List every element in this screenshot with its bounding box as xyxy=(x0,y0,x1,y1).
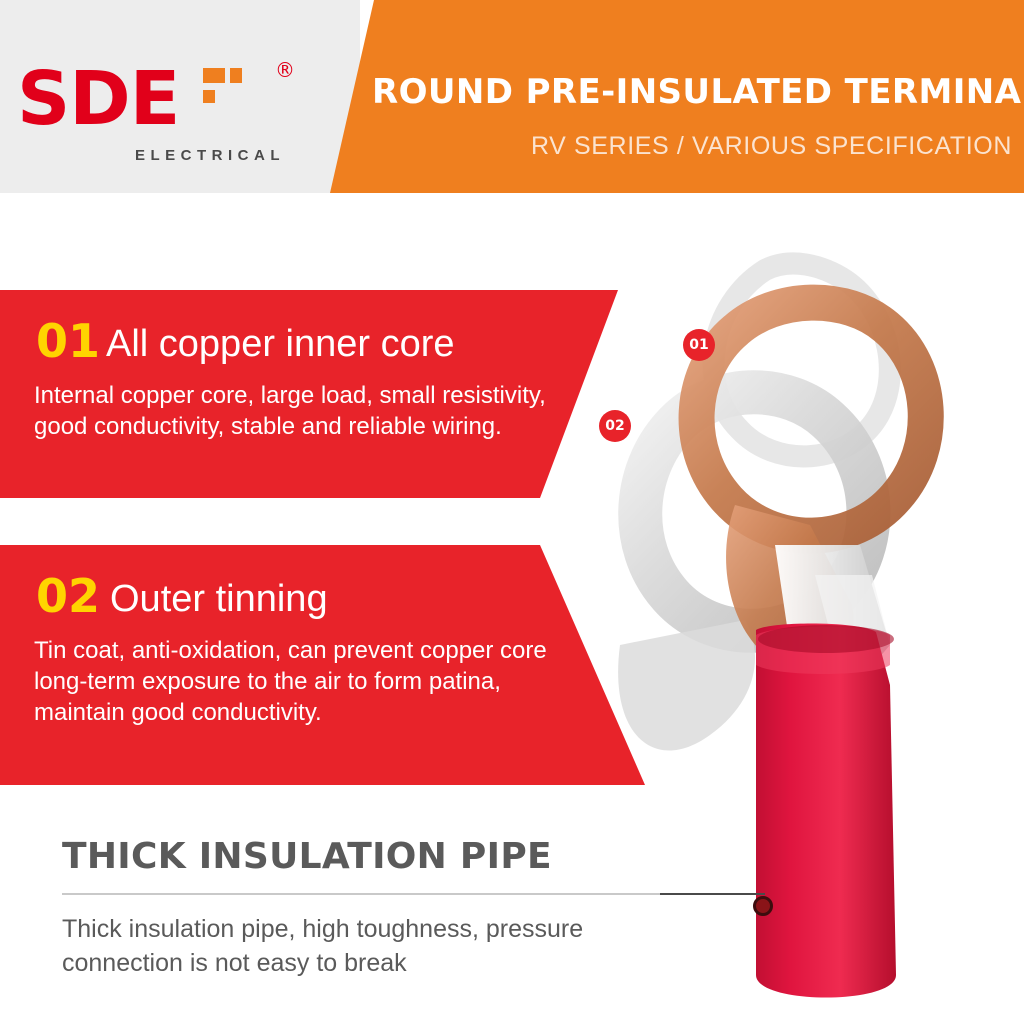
insulation-barrel xyxy=(756,623,896,997)
feature-heading-01: All copper inner core xyxy=(106,322,455,366)
feature-number-01: 01 xyxy=(36,318,100,364)
bottom-section-title: THICK INSULATION PIPE xyxy=(62,836,552,877)
logo-square-icon xyxy=(230,68,242,83)
logo-subtitle: ELECTRICAL xyxy=(135,147,285,164)
leader-line xyxy=(660,893,765,895)
brand-logo: SDE ® ELECTRICAL xyxy=(17,52,307,170)
callout-marker-01: 01 xyxy=(683,329,715,361)
logo-square-icon xyxy=(203,90,215,103)
infographic-page: SDE ® ELECTRICAL ROUND PRE-INSULATED TER… xyxy=(0,0,1024,1024)
registered-trademark-icon: ® xyxy=(275,58,295,82)
bottom-divider xyxy=(62,893,662,895)
feature-body-01: Internal copper core, large load, small … xyxy=(34,380,564,442)
product-illustration xyxy=(560,215,1024,1024)
bottom-section-body: Thick insulation pipe, high toughness, p… xyxy=(62,912,632,980)
page-subtitle: RV SERIES / VARIOUS SPECIFICATION xyxy=(372,132,1012,161)
feature-body-02: Tin coat, anti-oxidation, can prevent co… xyxy=(34,635,574,728)
ring-terminal-graphic xyxy=(560,215,1024,1024)
feature-heading-02: Outer tinning xyxy=(110,577,328,621)
callout-dot-icon xyxy=(753,896,773,916)
header: SDE ® ELECTRICAL ROUND PRE-INSULATED TER… xyxy=(0,0,1024,193)
feature-number-02: 02 xyxy=(36,573,100,619)
feature-block-01: 01 All copper inner core Internal copper… xyxy=(0,290,618,498)
callout-marker-02: 02 xyxy=(599,410,631,442)
page-title: ROUND PRE-INSULATED TERMINALS xyxy=(372,72,1012,112)
feature-block-02: 02 Outer tinning Tin coat, anti-oxidatio… xyxy=(0,545,645,785)
logo-wordmark: SDE xyxy=(17,62,179,136)
logo-square-icon xyxy=(203,68,225,83)
